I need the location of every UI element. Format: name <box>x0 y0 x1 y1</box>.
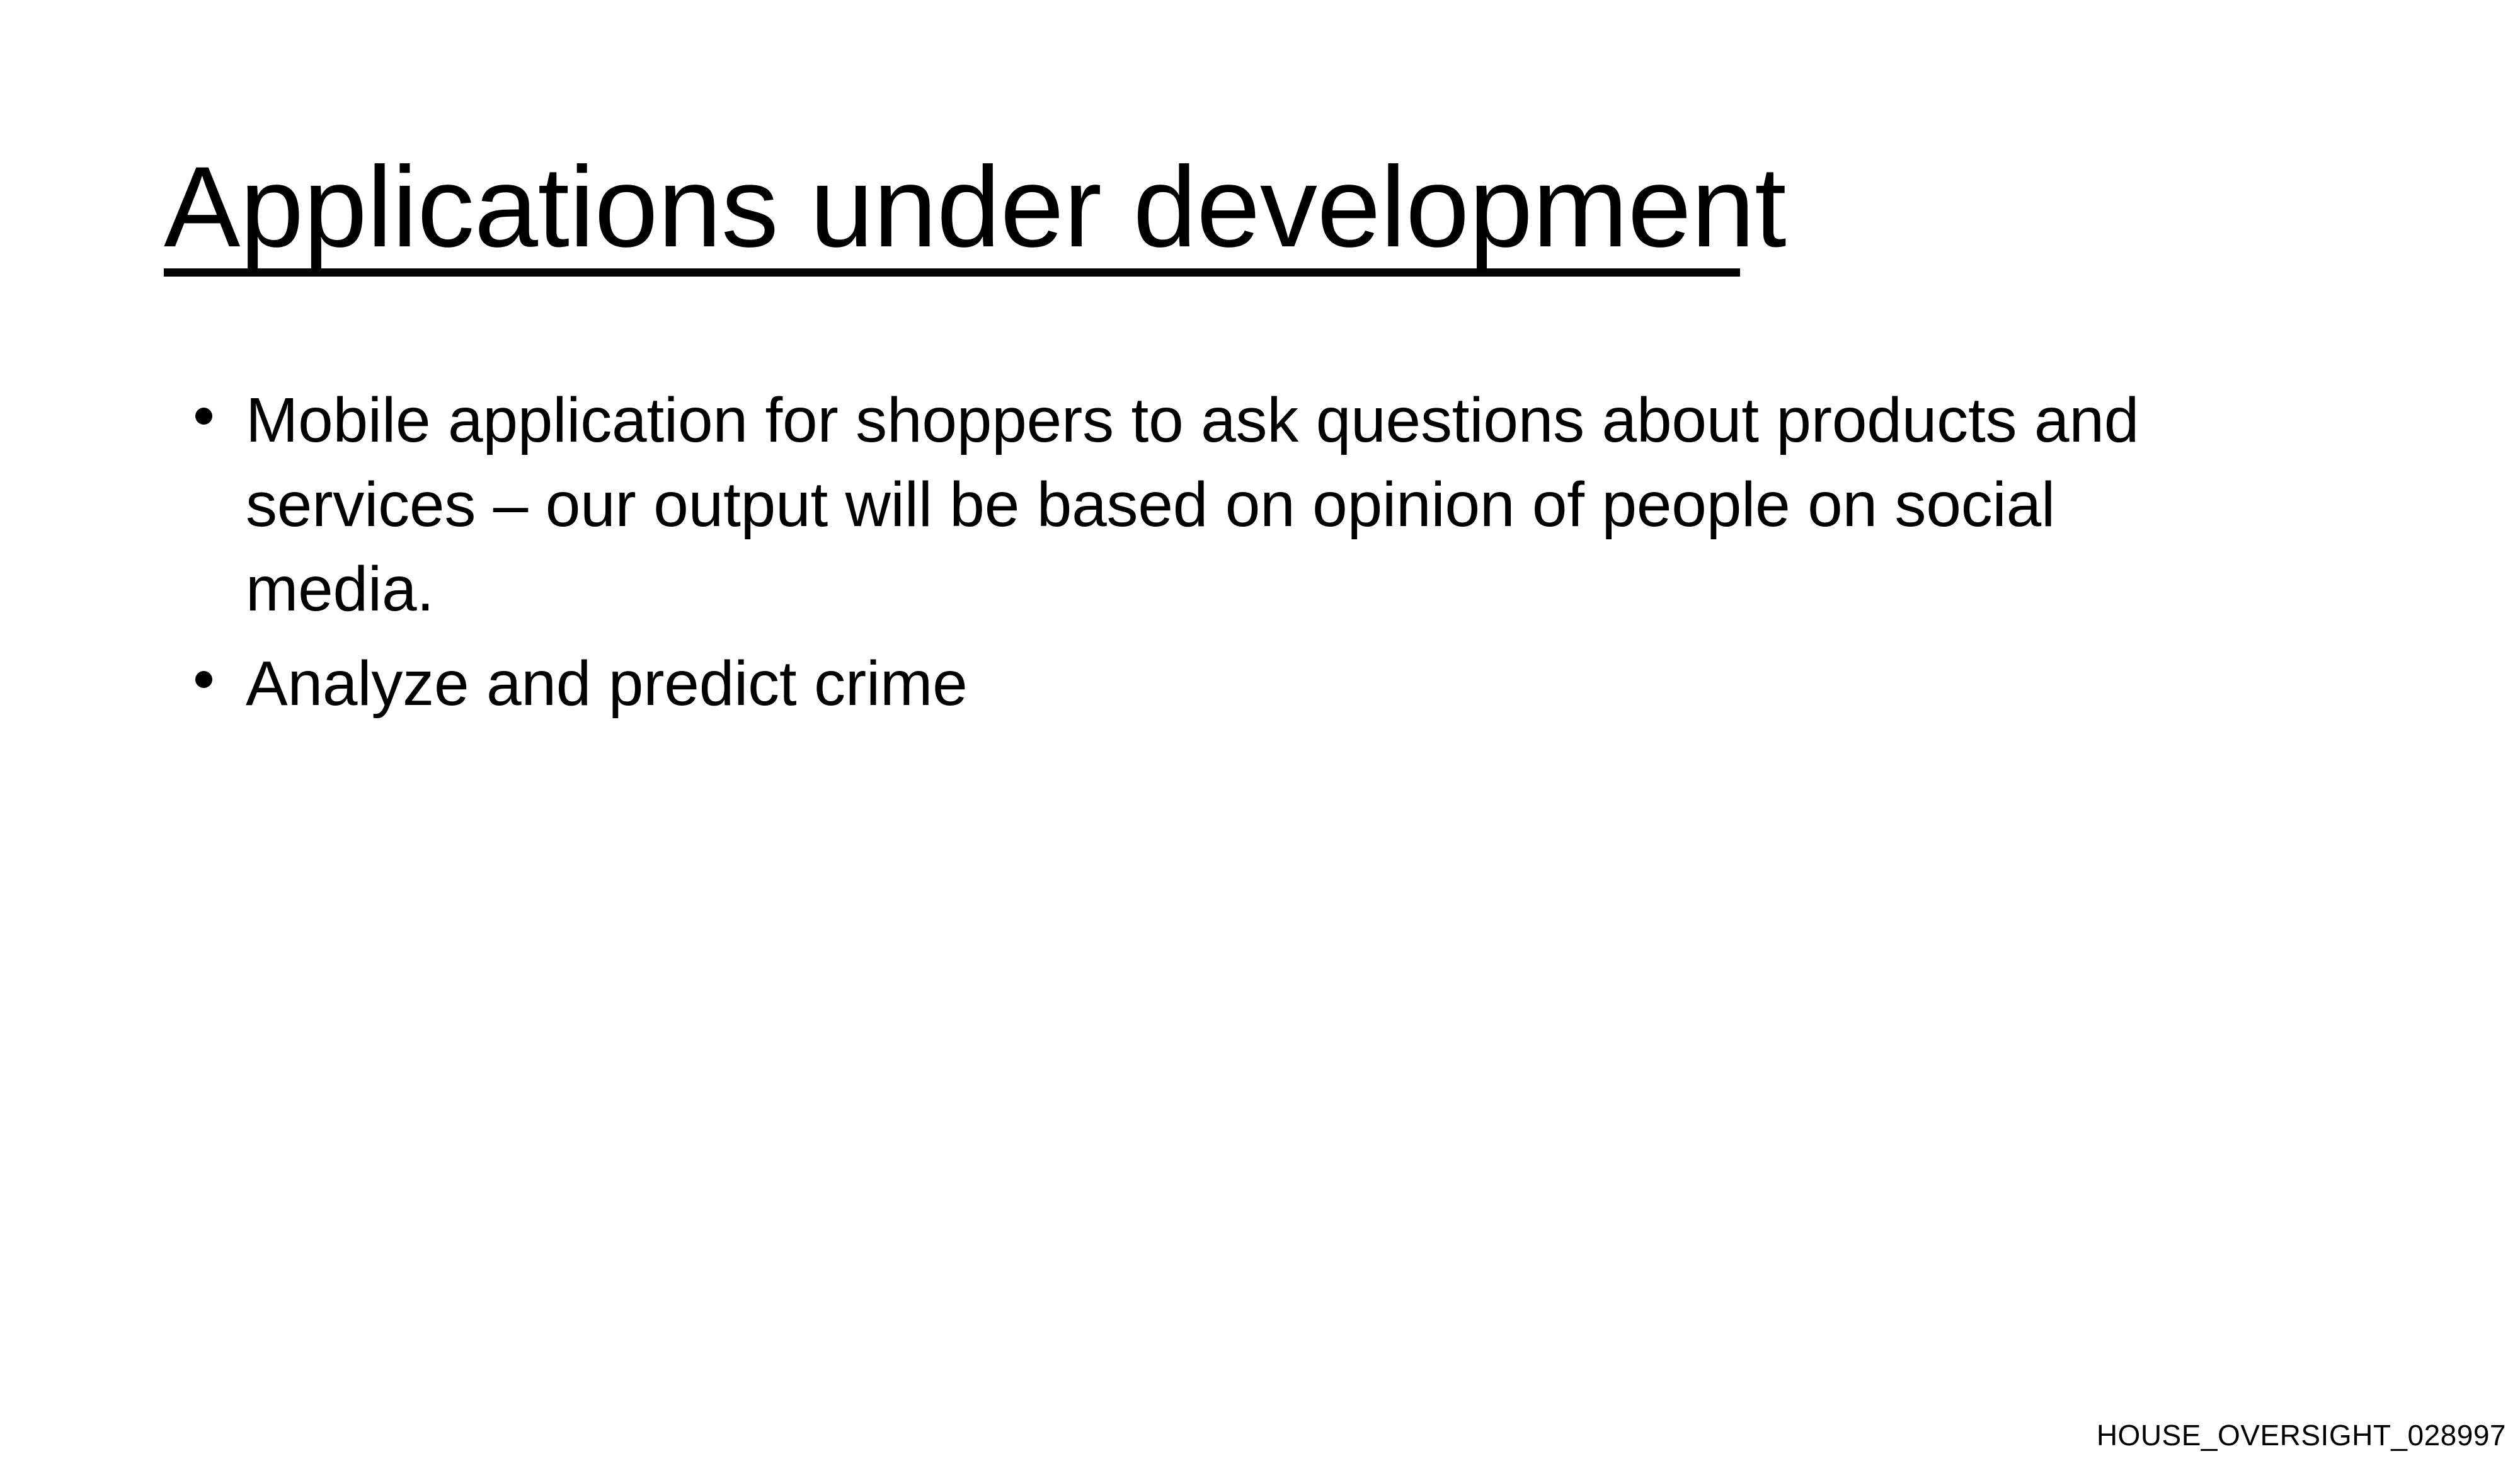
title-block: Applications under development <box>164 145 2356 269</box>
bullet-list: Mobile application for shoppers to ask q… <box>186 378 2328 726</box>
title-underline-rule <box>164 268 1740 277</box>
bullet-dot-icon <box>195 671 212 688</box>
list-item-text: Mobile application for shoppers to ask q… <box>246 378 2211 631</box>
list-item-text: Analyze and predict crime <box>246 641 2328 726</box>
bullet-dot-icon <box>195 408 212 425</box>
list-item: Mobile application for shoppers to ask q… <box>186 378 2328 631</box>
page-title: Applications under development <box>164 145 1786 269</box>
slide-body: Mobile application for shoppers to ask q… <box>186 378 2328 736</box>
list-item: Analyze and predict crime <box>186 641 2328 726</box>
presentation-slide: Applications under development Mobile ap… <box>0 0 2520 1461</box>
bates-stamp: HOUSE_OVERSIGHT_028997 <box>2097 1421 2506 1450</box>
